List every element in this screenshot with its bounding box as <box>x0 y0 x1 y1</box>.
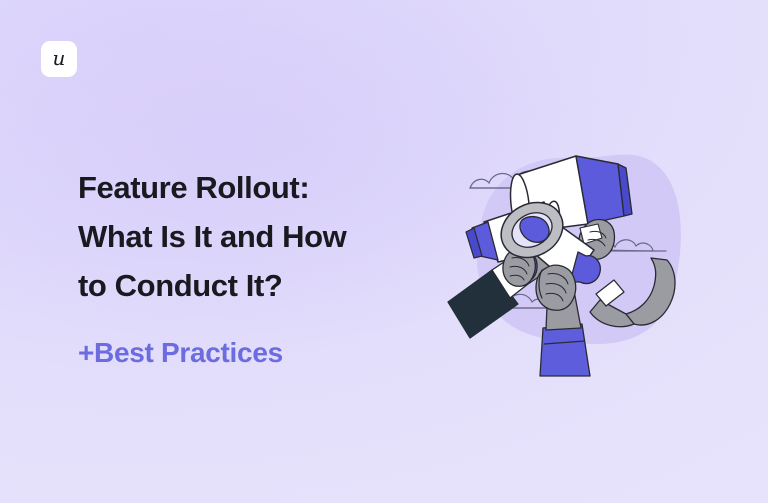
blog-cover: u <box>0 0 768 503</box>
page-title: Feature Rollout: What Is It and How to C… <box>78 163 408 310</box>
text-block: Feature Rollout: What Is It and How to C… <box>78 163 408 370</box>
subtitle: +Best Practices <box>78 336 408 370</box>
logo-glyph: u <box>53 48 66 68</box>
brand-logo[interactable]: u <box>41 41 77 77</box>
megaphones-illustration <box>448 128 700 376</box>
